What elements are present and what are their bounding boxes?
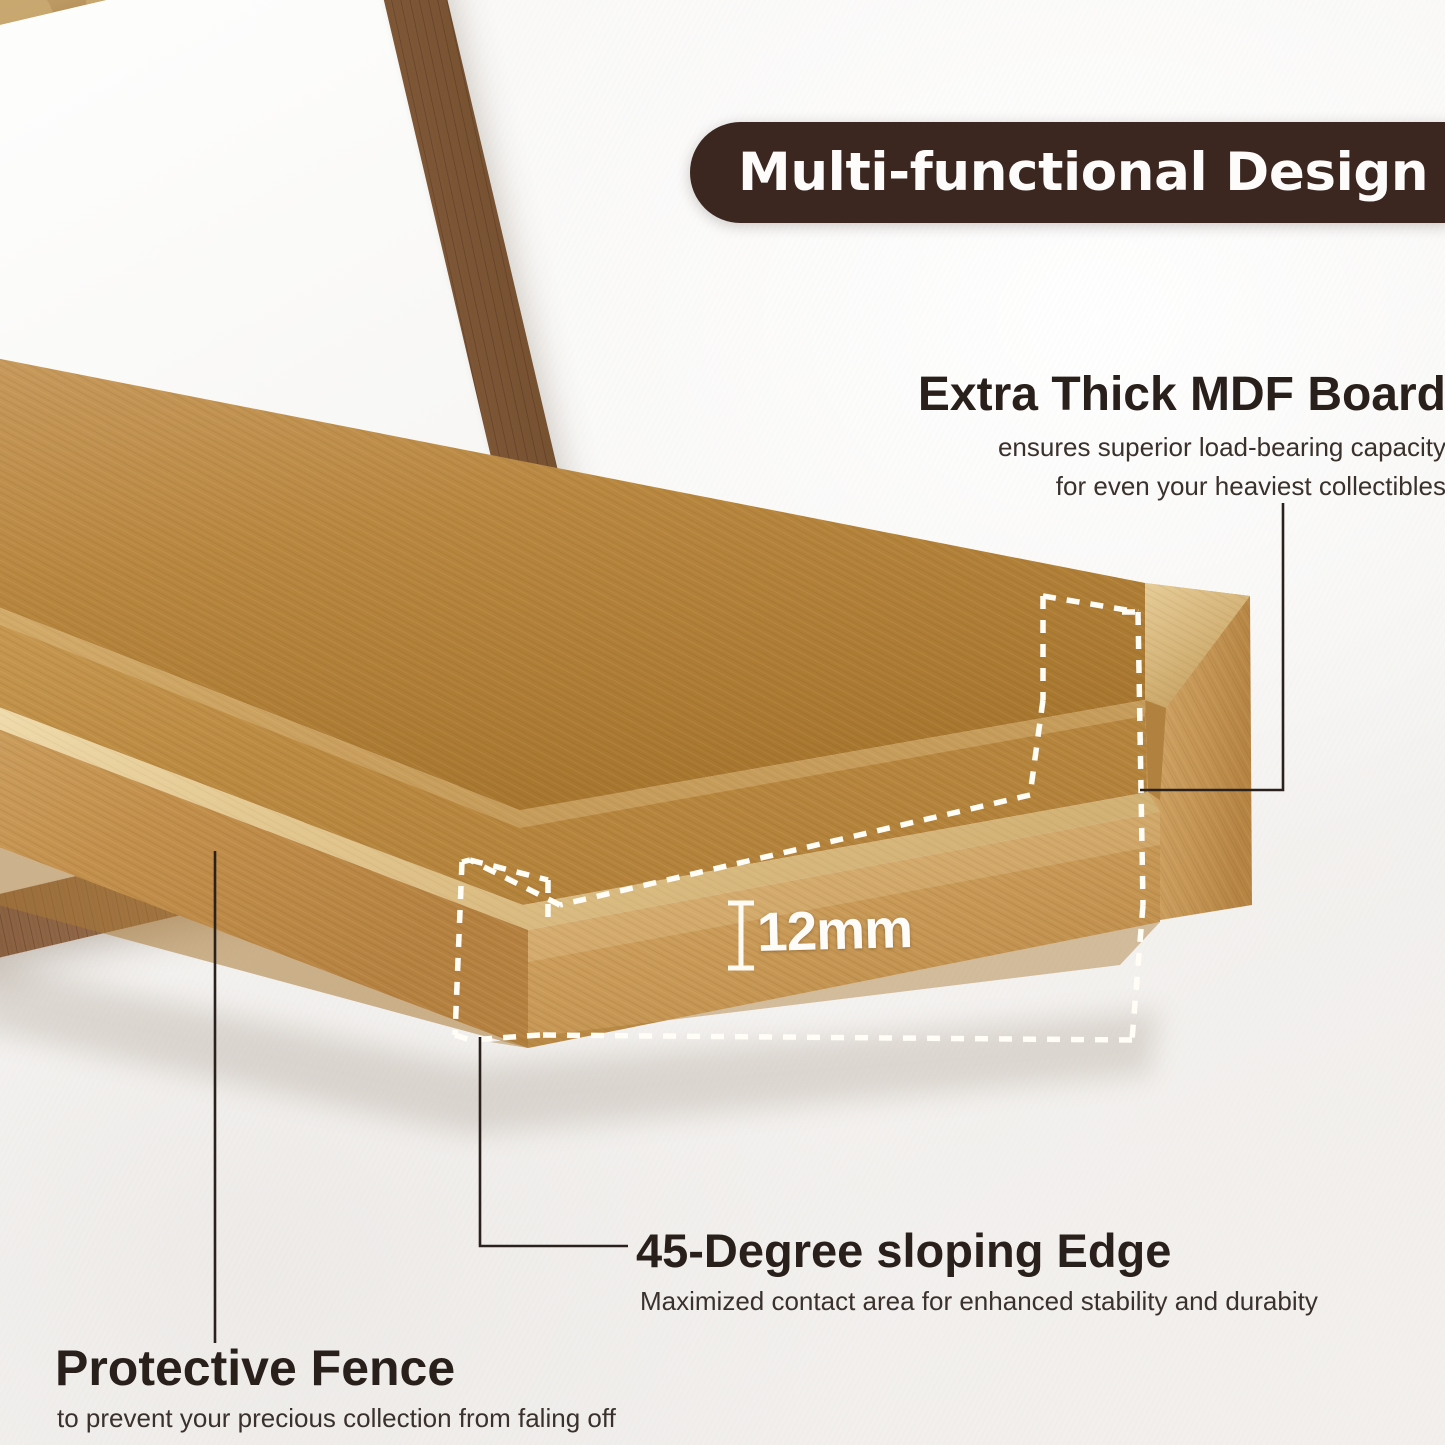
callout-protective-fence: Protective Fence to prevent your preciou…	[55, 1338, 616, 1435]
callout-mdf-title: Extra Thick MDF Board	[838, 365, 1445, 425]
callout-edge-subtitle: Maximized contact area for enhanced stab…	[640, 1284, 1318, 1318]
callout-sloping-edge: 45-Degree sloping Edge Maximized contact…	[636, 1222, 1318, 1318]
callout-fence-title: Protective Fence	[55, 1338, 616, 1398]
banner-title: Multi-functional Design	[738, 142, 1428, 203]
dimension-label-12mm: 12mm	[756, 896, 913, 964]
callout-fence-subtitle: to prevent your precious collection from…	[57, 1401, 616, 1435]
callout-mdf-subtitle-line2: for even your heaviest collectibles	[838, 470, 1445, 503]
callout-edge-title: 45-Degree sloping Edge	[636, 1222, 1318, 1280]
callout-mdf-subtitle-line1: ensures superior load-bearing capacity	[838, 431, 1445, 464]
product-infographic: Multi-functional Design Extra Thick MDF …	[0, 0, 1445, 1445]
title-banner: Multi-functional Design	[690, 122, 1445, 223]
callout-mdf-board: Extra Thick MDF Board ensures superior l…	[838, 365, 1445, 503]
